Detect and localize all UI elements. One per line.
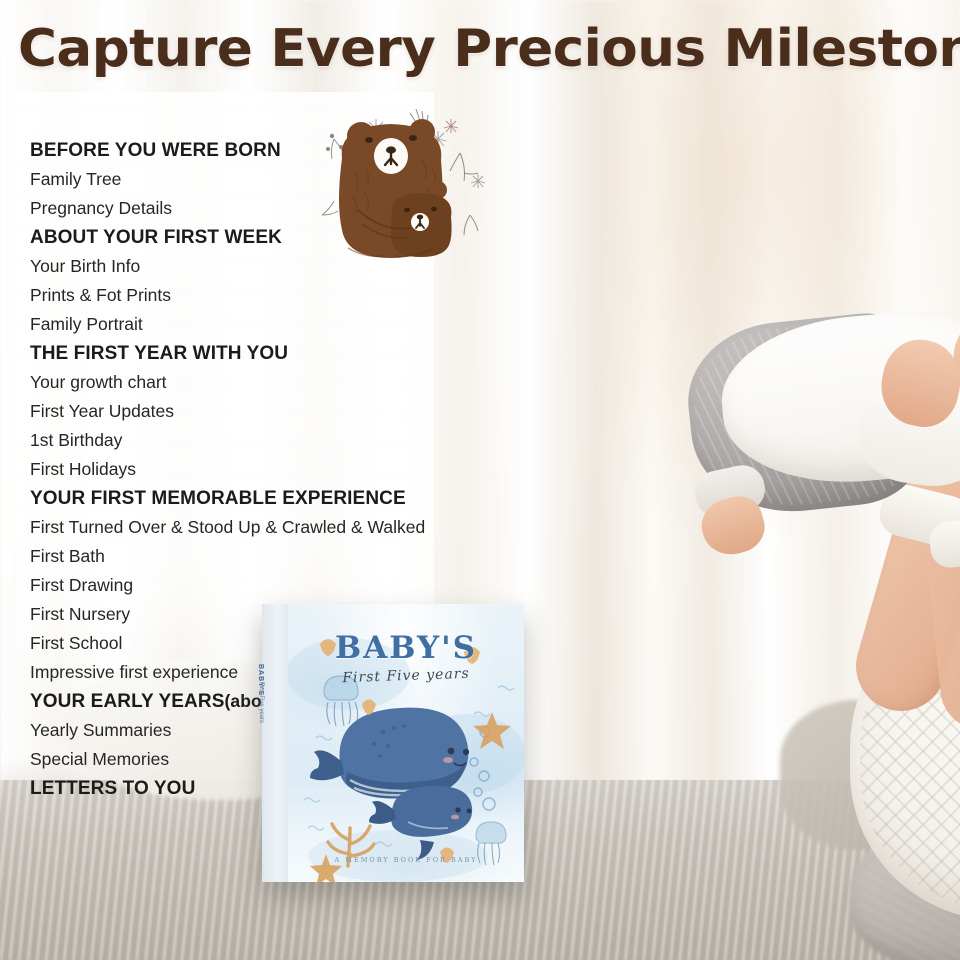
feature-list-item: Your Birth Info	[30, 252, 430, 281]
page-title: Capture Every Precious Milestone	[18, 18, 946, 80]
feature-label: First Year Updates	[30, 401, 174, 421]
feature-label: Your Birth Info	[30, 256, 140, 276]
book-title: BABY'S	[288, 630, 524, 666]
feature-label: Yearly Summaries	[30, 720, 171, 740]
feature-label: Prints & Fot Prints	[30, 285, 171, 305]
large-whale-icon	[310, 708, 469, 799]
book-spine-subtitle: First Five years	[248, 682, 264, 842]
feature-label: ABOUT YOUR FIRST WEEK	[30, 227, 282, 248]
feature-label: First School	[30, 633, 122, 653]
feature-list-item: Pregnancy Details	[30, 194, 430, 223]
memory-book-product[interactable]: BABY'S First Five years	[262, 604, 524, 882]
feature-section-heading: YOUR FIRST MEMORABLE EXPERIENCE	[30, 484, 430, 513]
feature-label: 1st Birthday	[30, 430, 122, 450]
feature-label: THE FIRST YEAR WITH YOU	[30, 343, 288, 364]
book-cover: BABY'S First Five years A MEMORY BOOK FO…	[288, 604, 524, 882]
feature-label: First Turned Over & Stood Up & Crawled &…	[30, 517, 425, 537]
feature-list-item: First Bath	[30, 542, 430, 571]
book-spine: BABY'S First Five years	[262, 604, 289, 882]
feature-list-item: First Year Updates	[30, 397, 430, 426]
feature-list-item: First Drawing	[30, 571, 430, 600]
feature-label: Pregnancy Details	[30, 198, 172, 218]
feature-list-item: Family Tree	[30, 165, 430, 194]
feature-label: YOUR FIRST MEMORABLE EXPERIENCE	[30, 488, 406, 509]
feature-label: First Drawing	[30, 575, 133, 595]
feature-section-heading: ABOUT YOUR FIRST WEEK	[30, 223, 430, 252]
poster-canvas: Capture Every Precious Milestone	[0, 0, 960, 960]
feature-list-item: Prints & Fot Prints	[30, 281, 430, 310]
feature-label: First Holidays	[30, 459, 136, 479]
feature-label: First Nursery	[30, 604, 130, 624]
feature-label: BEFORE YOU WERE BORN	[30, 140, 281, 161]
feature-list-item: 1st Birthday	[30, 426, 430, 455]
feature-label: Impressive first experience	[30, 662, 238, 682]
feature-label: Special Memories	[30, 749, 169, 769]
feature-section-heading: THE FIRST YEAR WITH YOU	[30, 339, 430, 368]
feature-list-item: First Holidays	[30, 455, 430, 484]
feature-label: Family Tree	[30, 169, 121, 189]
feature-label: Family Portrait	[30, 314, 143, 334]
feature-list-item: First Turned Over & Stood Up & Crawled &…	[30, 513, 430, 542]
feature-section-heading: BEFORE YOU WERE BORN	[30, 136, 430, 165]
feature-list-item: Your growth chart	[30, 368, 430, 397]
feature-label: First Bath	[30, 546, 105, 566]
feature-list-item: Family Portrait	[30, 310, 430, 339]
feature-label: Your growth chart	[30, 372, 167, 392]
book-footer-text: A MEMORY BOOK FOR BABY	[288, 856, 524, 864]
feature-label: LETTERS TO YOU	[30, 778, 195, 799]
feature-label: YOUR EARLY YEARS	[30, 691, 224, 712]
